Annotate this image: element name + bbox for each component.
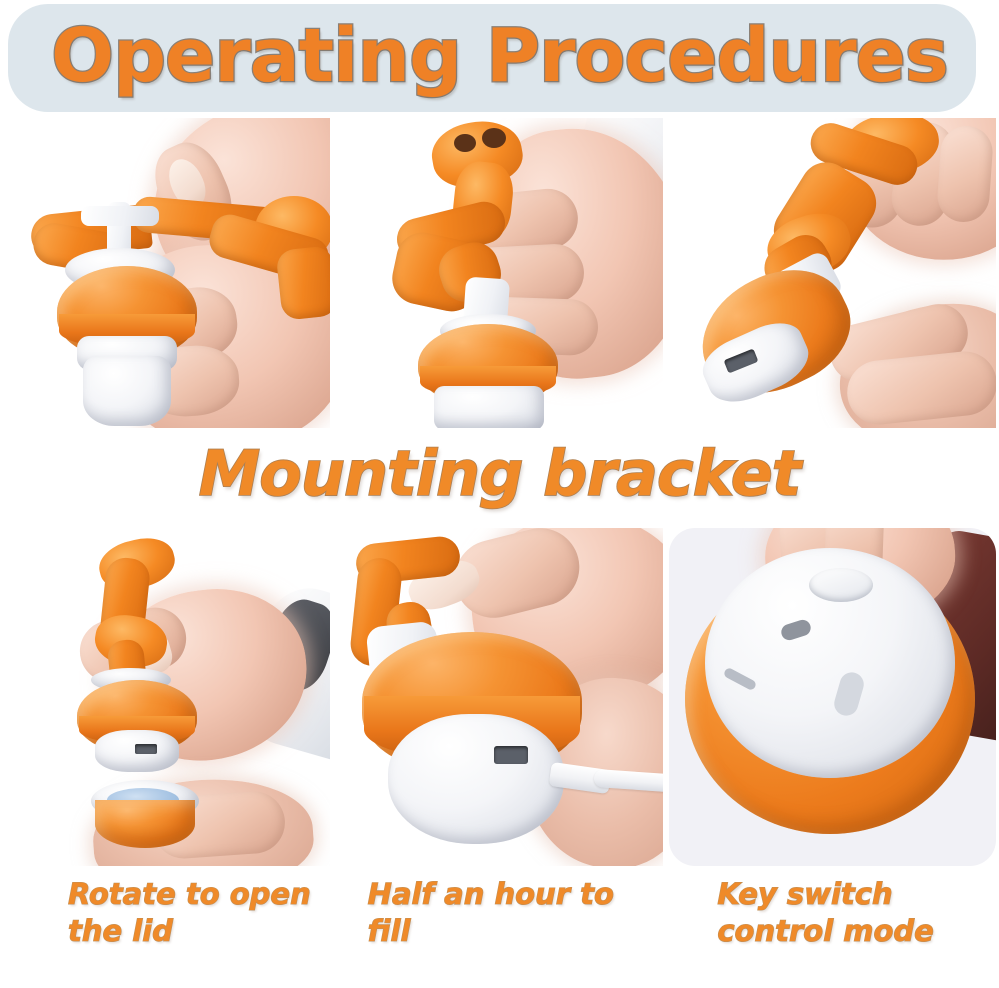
caption-line: Key switch <box>717 876 989 913</box>
caption-line: Half an hour to fill <box>368 876 640 950</box>
caption-cell-2: Half an hour to fill <box>350 876 650 988</box>
photo-canvas-2 <box>336 118 663 428</box>
infographic-page: Operating Procedures <box>0 0 999 988</box>
rope-detail <box>482 128 506 148</box>
caption-cell-3: Key switch control mode <box>649 876 999 988</box>
key-switch <box>809 568 873 602</box>
rope-detail <box>454 134 476 152</box>
lid-orange-cup <box>95 800 195 848</box>
step-photo-4 <box>3 528 330 866</box>
usb-port-icon <box>135 744 157 754</box>
usb-port-icon <box>494 746 528 764</box>
caption-line: control mode <box>717 913 989 950</box>
caption-line: the lid <box>68 913 340 950</box>
photo-canvas-6 <box>669 528 996 866</box>
white-base <box>434 386 544 428</box>
mounting-bracket-caption: Mounting bracket <box>0 437 999 510</box>
caption-line: Rotate to open <box>68 876 340 913</box>
caption-key-switch-control-mode: Key switch control mode <box>717 876 989 950</box>
caption-cell-1: Rotate to open the lid <box>0 876 350 988</box>
caption-rotate-to-open-the-lid: Rotate to open the lid <box>68 876 340 950</box>
photo-canvas-5 <box>336 528 663 866</box>
step-captions: Rotate to open the lid Half an hour to f… <box>0 876 999 988</box>
step-photo-1 <box>3 118 330 428</box>
rope-segment <box>275 245 330 320</box>
photo-canvas-3 <box>669 118 996 428</box>
step-photo-2 <box>336 118 663 428</box>
step-photo-3 <box>669 118 996 428</box>
white-body <box>83 356 171 426</box>
finger-shape <box>936 124 995 223</box>
white-crossbar <box>81 206 159 226</box>
white-base <box>388 714 564 844</box>
caption-half-an-hour-to-fill: Half an hour to fill <box>368 876 640 950</box>
step-photo-5 <box>336 528 663 866</box>
photo-canvas-1 <box>3 118 330 428</box>
page-title: Operating Procedures <box>0 0 999 112</box>
steps-row-bottom <box>0 528 999 866</box>
step-photo-6 <box>669 528 996 866</box>
photo-canvas-4 <box>3 528 330 866</box>
steps-row-top <box>0 118 999 428</box>
